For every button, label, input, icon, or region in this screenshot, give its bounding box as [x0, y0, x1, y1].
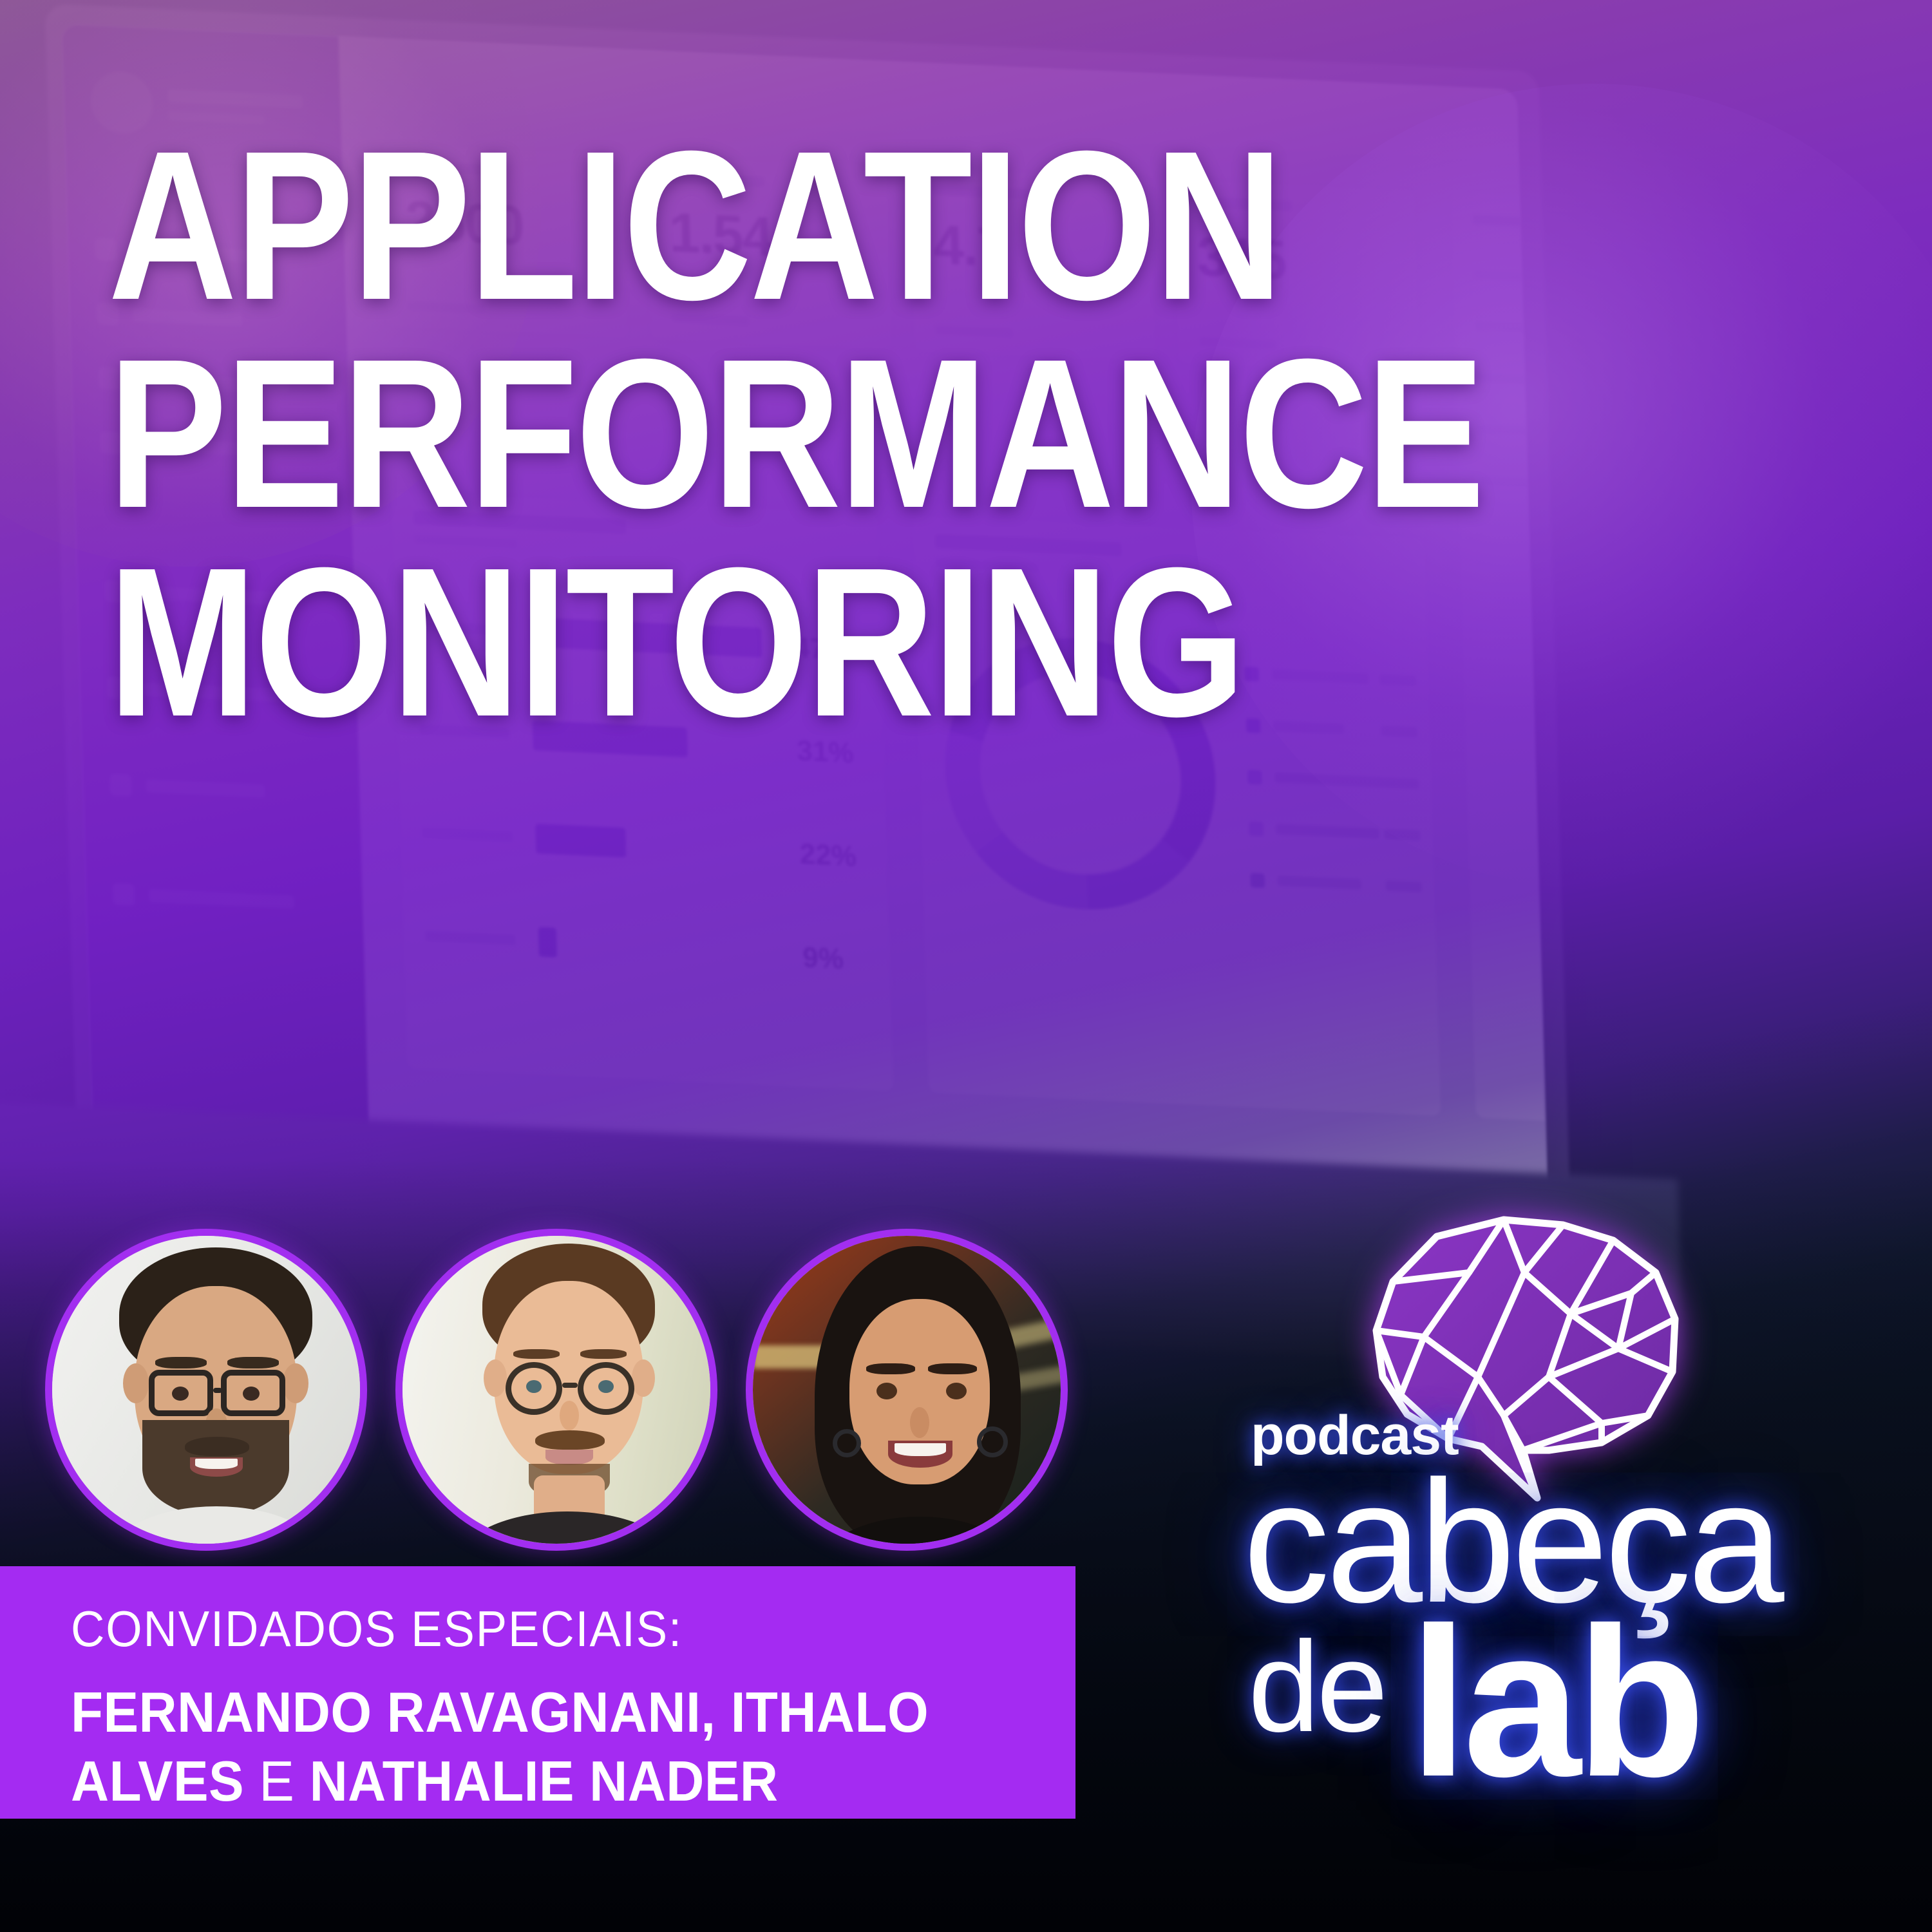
earring-left-icon — [833, 1429, 861, 1457]
podcast-logo: podcast cabeça de lab — [1243, 1211, 1900, 1893]
logo-word-lab: lab — [1409, 1596, 1701, 1808]
guest-avatar-group — [45, 1229, 1068, 1551]
guest-names-conjunction: E — [259, 1749, 294, 1813]
guest-avatar-fernando-ravagnani — [45, 1229, 367, 1551]
guest-names-nathalie: NATHALIE NADER — [310, 1749, 779, 1813]
podcast-cover: 2500 1.54 4.7 315 — [0, 0, 1932, 1932]
guest-banner-names: FERNANDO RAVAGNANI, ITHALO ALVES E NATHA… — [71, 1678, 1005, 1816]
avatar-photo-2 — [402, 1236, 710, 1544]
title-line-3: MONITORING — [108, 538, 1406, 746]
guest-avatar-ithalo-alves — [395, 1229, 717, 1551]
guest-names-line-1: FERNANDO RAVAGNANI, ITHALO — [71, 1680, 929, 1744]
title-line-2: PERFORMANCE — [108, 329, 1406, 537]
episode-title: APPLICATION PERFORMANCE MONITORING — [108, 121, 1654, 746]
avatar-photo-1 — [52, 1236, 360, 1544]
earring-right-icon — [977, 1426, 1008, 1457]
guest-names-alves: ALVES — [71, 1749, 244, 1813]
avatar-photo-3 — [753, 1236, 1061, 1544]
guest-avatar-nathalie-nader — [746, 1229, 1068, 1551]
guest-banner-kicker: CONVIDADOS ESPECIAIS: — [71, 1600, 1005, 1658]
logo-word-de: de — [1248, 1623, 1385, 1752]
title-line-1: APPLICATION — [108, 121, 1406, 329]
guest-banner: CONVIDADOS ESPECIAIS: FERNANDO RAVAGNANI… — [0, 1566, 1075, 1819]
